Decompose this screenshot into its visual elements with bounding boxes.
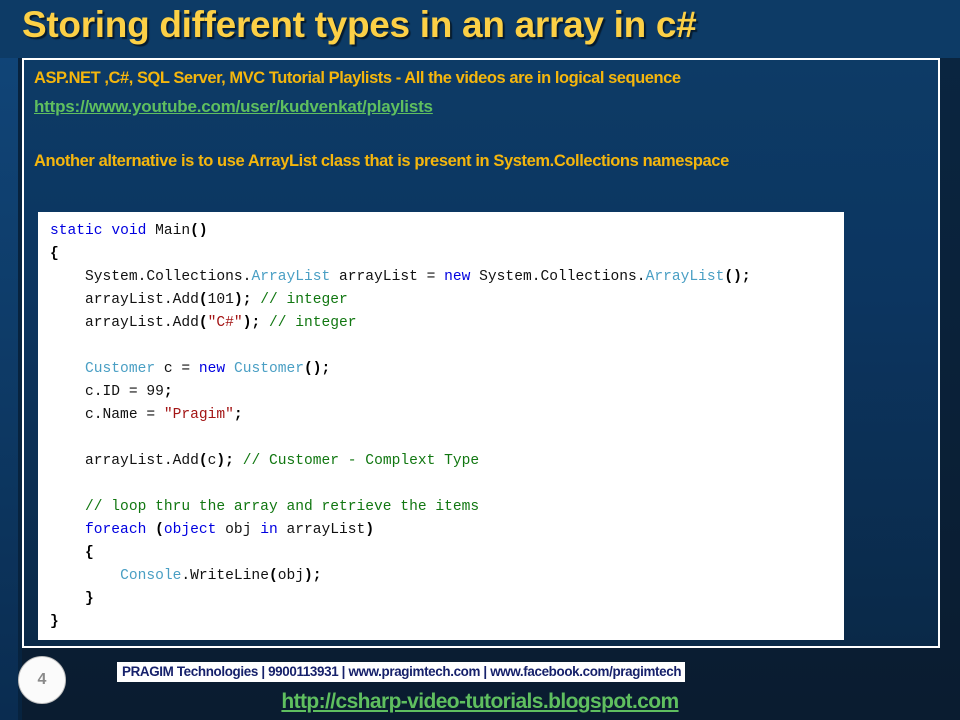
code-line (50, 335, 844, 358)
code-line: arrayList.Add(101); // integer (50, 289, 844, 312)
code-line: c.Name = "Pragim"; (50, 404, 844, 427)
code-line: arrayList.Add("C#"); // integer (50, 312, 844, 335)
code-line (50, 473, 844, 496)
blog-url-link[interactable]: http://csharp-video-tutorials.blogspot.c… (0, 690, 960, 714)
code-line (50, 427, 844, 450)
playlists-line: ASP.NET ,C#, SQL Server, MVC Tutorial Pl… (34, 69, 681, 88)
code-line: c.ID = 99; (50, 381, 844, 404)
content-box: ASP.NET ,C#, SQL Server, MVC Tutorial Pl… (22, 58, 940, 648)
alternative-description: Another alternative is to use ArrayList … (34, 150, 914, 173)
footer-credits: PRAGIM Technologies | 9900113931 | www.p… (117, 662, 685, 682)
code-line: System.Collections.ArrayList arrayList =… (50, 266, 844, 289)
code-block: static void Main(){ System.Collections.A… (38, 212, 844, 640)
code-line: // loop thru the array and retrieve the … (50, 496, 844, 519)
left-accent-strip (0, 0, 18, 720)
code-line: { (50, 243, 844, 266)
code-line: Console.WriteLine(obj); (50, 565, 844, 588)
code-line: arrayList.Add(c); // Customer - Complext… (50, 450, 844, 473)
page-title: Storing different types in an array in c… (22, 4, 942, 46)
code-line: } (50, 611, 844, 634)
code-line: } (50, 588, 844, 611)
code-lines: static void Main(){ System.Collections.A… (50, 220, 844, 634)
youtube-playlists-link[interactable]: https://www.youtube.com/user/kudvenkat/p… (34, 97, 433, 117)
code-line: static void Main() (50, 220, 844, 243)
slide-canvas: Storing different types in an array in c… (0, 0, 960, 720)
code-line: { (50, 542, 844, 565)
code-line: Customer c = new Customer(); (50, 358, 844, 381)
code-line: foreach (object obj in arrayList) (50, 519, 844, 542)
